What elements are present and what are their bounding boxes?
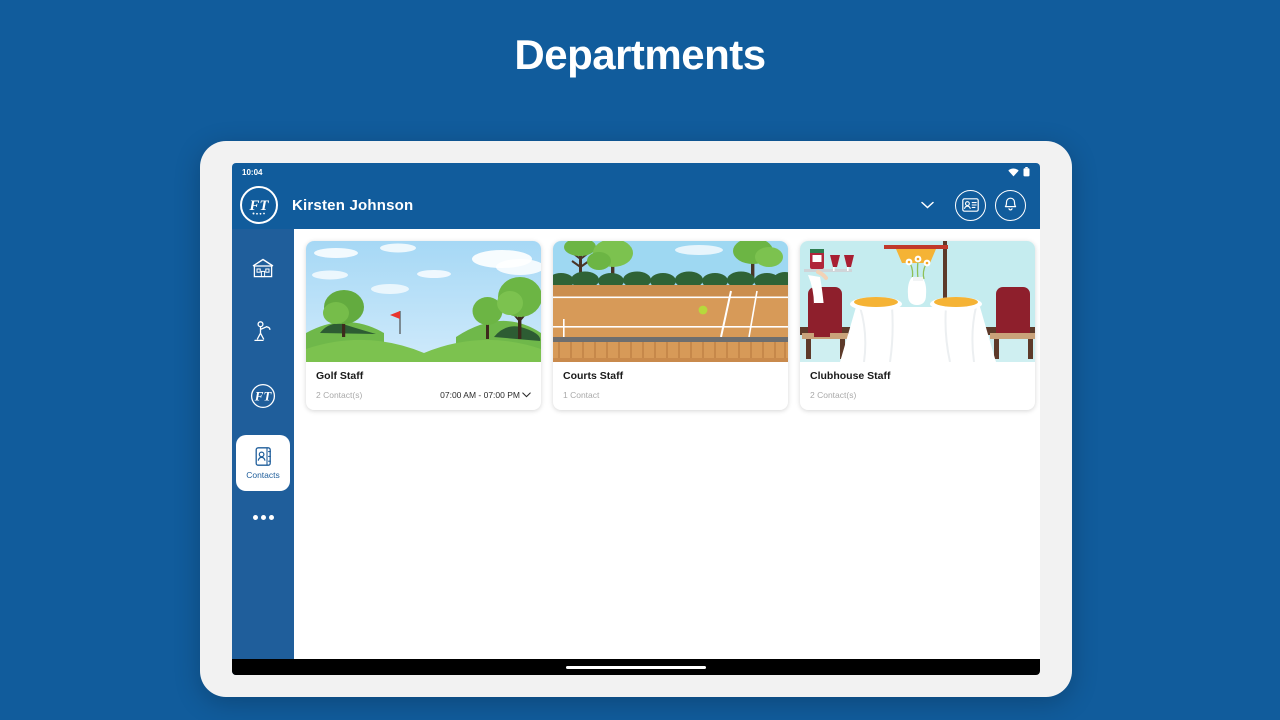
ft-logo-icon: FT: [249, 382, 277, 410]
card-contact-count: 2 Contact(s): [316, 390, 362, 400]
ft-logo-icon[interactable]: FT: [240, 186, 278, 224]
contacts-book-icon: [253, 446, 274, 467]
sidebar-item-contacts[interactable]: Contacts: [236, 435, 290, 491]
user-name: Kirsten Johnson: [292, 197, 413, 214]
card-hours-text: 07:00 AM - 07:00 PM: [440, 390, 520, 400]
battery-icon: [1023, 167, 1030, 177]
chevron-down-icon: [522, 392, 531, 398]
card-body: Clubhouse Staff 2 Contact(s): [800, 362, 1035, 410]
status-bar-indicators: [1008, 167, 1030, 177]
ft-monogram-icon: FT: [246, 194, 272, 216]
golf-course-art: [306, 241, 541, 362]
card-body: Courts Staff 1 Contact: [553, 362, 788, 410]
department-card[interactable]: Golf Staff 2 Contact(s) 07:00 AM - 07:00…: [306, 241, 541, 410]
card-title: Golf Staff: [316, 370, 531, 382]
sidebar-item-label: Contacts: [246, 470, 280, 480]
bell-icon: [1003, 197, 1018, 213]
card-contact-count: 2 Contact(s): [810, 390, 856, 400]
app-header: FT Kirsten Johnson: [232, 181, 1040, 229]
more-dots-icon[interactable]: [253, 515, 274, 520]
card-contact-count: 1 Contact: [563, 390, 599, 400]
contact-card-icon: [962, 198, 979, 212]
department-card-list: Golf Staff 2 Contact(s) 07:00 AM - 07:00…: [306, 241, 1035, 410]
dining-room-art: [800, 241, 1035, 362]
more-dot: [253, 515, 258, 520]
sidebar-item-golf[interactable]: [236, 307, 290, 357]
wifi-icon: [1008, 168, 1019, 177]
more-dot: [269, 515, 274, 520]
app-body: FT Contacts: [232, 229, 1040, 675]
notifications-button[interactable]: [995, 190, 1026, 221]
sidebar-item-ft[interactable]: FT: [236, 371, 290, 421]
card-title: Clubhouse Staff: [810, 370, 1025, 382]
contact-card-button[interactable]: [955, 190, 986, 221]
card-body: Golf Staff 2 Contact(s) 07:00 AM - 07:00…: [306, 362, 541, 410]
tablet-device-frame: 10:04 FT: [200, 141, 1072, 697]
card-meta: 2 Contact(s) 07:00 AM - 07:00 PM: [316, 390, 531, 400]
card-hours-dropdown[interactable]: 07:00 AM - 07:00 PM: [440, 390, 531, 400]
svg-text:FT: FT: [248, 198, 269, 214]
chevron-down-icon: [921, 201, 934, 209]
dining-room-illustration: [800, 241, 1035, 362]
tablet-screen: 10:04 FT: [232, 163, 1040, 675]
page-title-text: Departments: [514, 31, 765, 79]
card-meta: 2 Contact(s): [810, 390, 1025, 400]
svg-text:FT: FT: [254, 389, 273, 404]
device-home-bar: [232, 659, 1040, 675]
page-title: Departments: [0, 0, 1280, 110]
tennis-court-illustration: [553, 241, 788, 362]
account-chevron-button[interactable]: [921, 201, 934, 209]
sidebar-item-clubhouse[interactable]: [236, 243, 290, 293]
status-bar-time: 10:04: [242, 168, 262, 177]
tennis-court-art: [553, 241, 788, 362]
golfer-icon: [251, 320, 275, 344]
card-title: Courts Staff: [563, 370, 778, 382]
department-card[interactable]: Courts Staff 1 Contact: [553, 241, 788, 410]
main-content: Golf Staff 2 Contact(s) 07:00 AM - 07:00…: [294, 229, 1040, 675]
more-dot: [261, 515, 266, 520]
department-card[interactable]: Clubhouse Staff 2 Contact(s): [800, 241, 1035, 410]
clubhouse-icon: [251, 257, 275, 279]
card-meta: 1 Contact: [563, 390, 778, 400]
golf-course-illustration: [306, 241, 541, 362]
sidebar-nav: FT Contacts: [232, 229, 294, 675]
status-bar: 10:04: [232, 163, 1040, 181]
home-indicator[interactable]: [566, 666, 706, 669]
